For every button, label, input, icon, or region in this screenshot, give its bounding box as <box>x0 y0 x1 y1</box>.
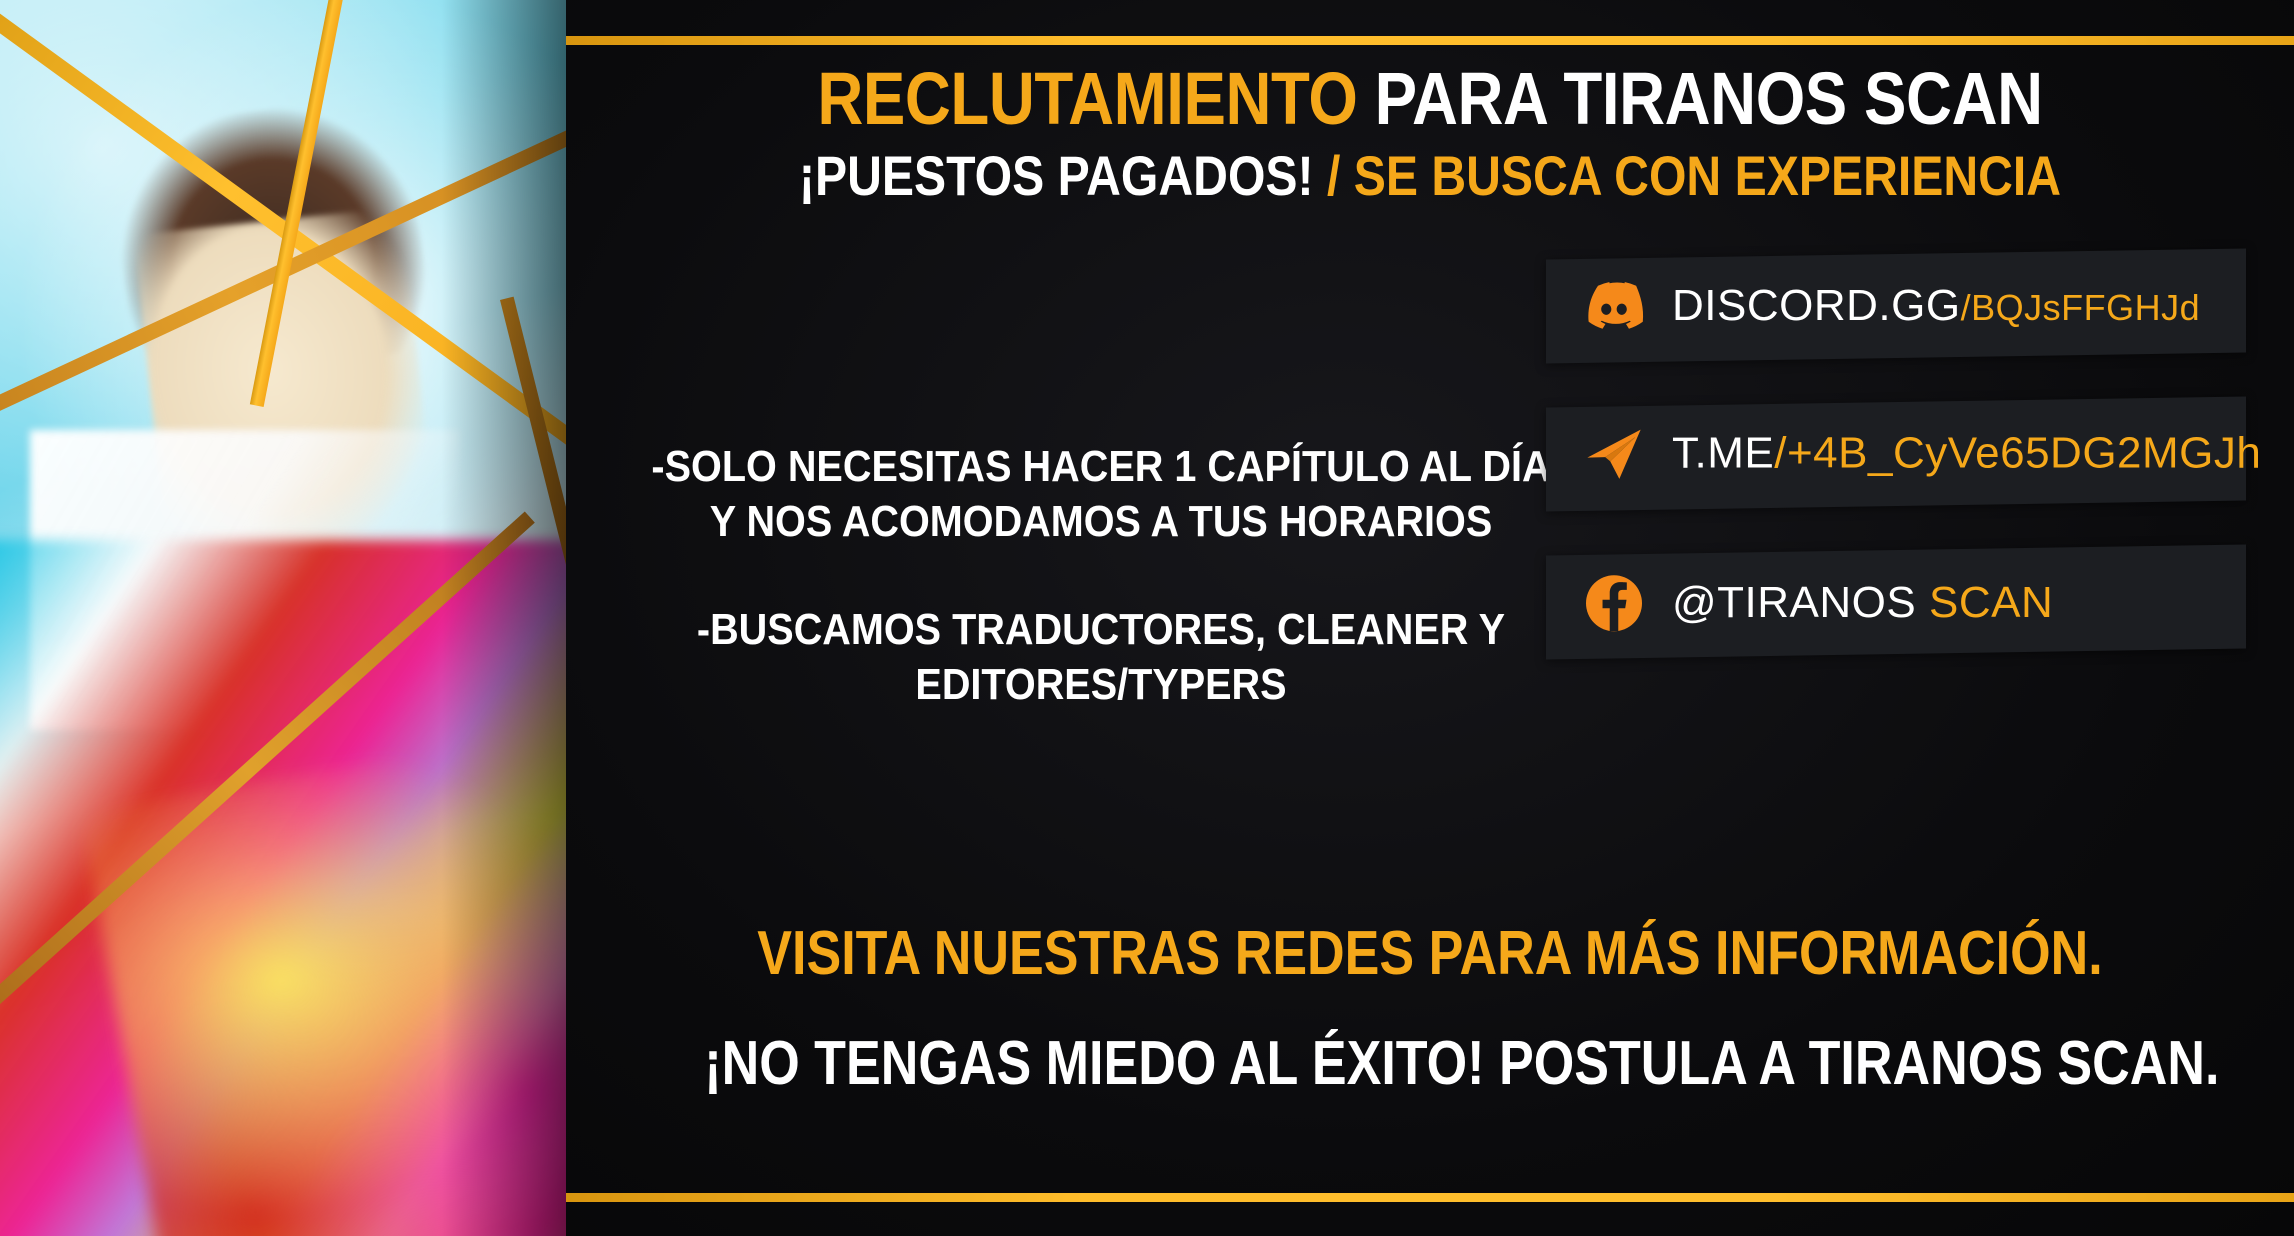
artwork-panel <box>0 0 566 1236</box>
title-rest: PARA TIRANOS SCAN <box>1375 57 2043 140</box>
page-title: RECLUTAMIENTO PARA TIRANOS SCAN <box>687 62 2173 136</box>
recruitment-banner: RECLUTAMIENTO PARA TIRANOS SCAN ¡PUESTOS… <box>0 0 2294 1236</box>
title-highlight: RECLUTAMIENTO <box>817 57 1357 140</box>
subtitle: ¡PUESTOS PAGADOS! / SE BUSCA CON EXPERIE… <box>687 148 2173 204</box>
telegram-icon <box>1582 422 1646 486</box>
requirement-roles: -BUSCAMOS TRADUCTORES, CLEANER Y EDITORE… <box>647 603 1556 712</box>
requirements-list: -SOLO NECESITAS HACER 1 CAPÍTULO AL DÍA … <box>596 440 1606 712</box>
contact-label-facebook: @TIRANOS SCAN <box>1672 578 2053 628</box>
contact-card-telegram[interactable]: T.ME/+4B_CyVe65DG2MGJh <box>1546 397 2246 512</box>
contact-label-telegram: T.ME/+4B_CyVe65DG2MGJh <box>1672 429 2261 479</box>
discord-domain: DISCORD.GG <box>1672 281 1961 330</box>
contact-card-discord[interactable]: DISCORD.GG/BQJsFFGHJd <box>1546 249 2246 364</box>
cta-visit-networks: VISITA NUESTRAS REDES PARA MÁS INFORMACI… <box>704 918 2156 989</box>
requirement-schedule: -SOLO NECESITAS HACER 1 CAPÍTULO AL DÍA … <box>647 440 1556 549</box>
artwork-edge-shadow <box>0 0 566 1236</box>
facebook-handle-suffix: SCAN <box>1929 578 2053 627</box>
subtitle-experience: / SE BUSCA CON EXPERIENCIA <box>1327 144 2061 207</box>
subtitle-paid-positions: ¡PUESTOS PAGADOS! <box>799 144 1314 207</box>
telegram-invite-code: /+4B_CyVe65DG2MGJh <box>1774 429 2261 478</box>
content-panel: RECLUTAMIENTO PARA TIRANOS SCAN ¡PUESTOS… <box>566 0 2294 1236</box>
telegram-domain: T.ME <box>1672 429 1774 478</box>
discord-icon <box>1582 274 1646 338</box>
contact-label-discord: DISCORD.GG/BQJsFFGHJd <box>1672 281 2200 331</box>
contact-card-facebook[interactable]: @TIRANOS SCAN <box>1546 545 2246 660</box>
facebook-icon <box>1582 571 1646 635</box>
contact-card-list: DISCORD.GG/BQJsFFGHJd T.ME/+4 <box>1546 254 2246 698</box>
cta-apply: ¡NO TENGAS MIEDO AL ÉXITO! POSTULA A TIR… <box>704 1028 2156 1099</box>
discord-invite-code: /BQJsFFGHJd <box>1961 287 2201 328</box>
facebook-handle: @TIRANOS <box>1672 578 1916 627</box>
